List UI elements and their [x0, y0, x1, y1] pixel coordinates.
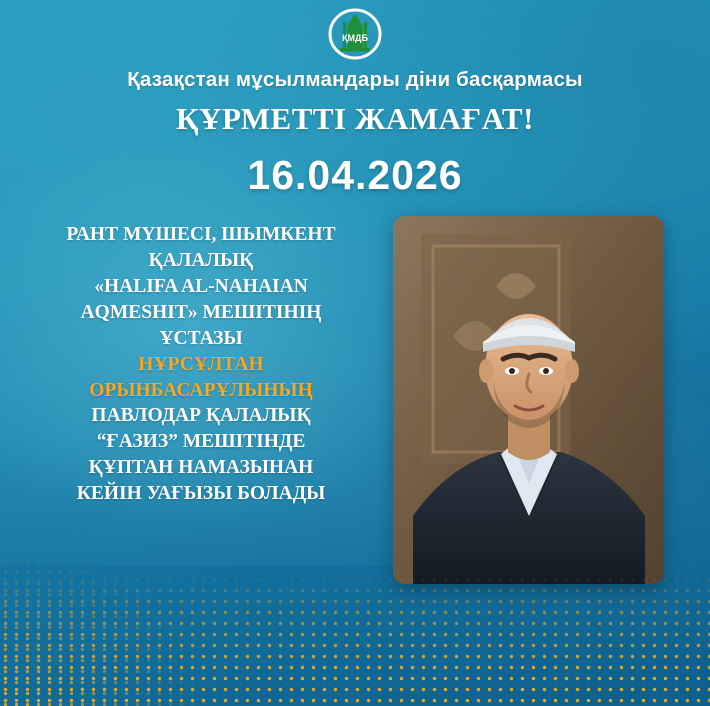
- announcement-line: “ҒАЗИЗ” МЕШІТІНДЕ: [26, 429, 376, 455]
- speaker-name-line: НҰРСҰЛТАН: [26, 352, 376, 378]
- announcement-line: AQMESHIT» МЕШІТІНІҢ: [26, 300, 376, 326]
- announcement-line: ПАВЛОДАР ҚАЛАЛЫҚ: [26, 403, 376, 429]
- decorative-dot-corner: [0, 556, 200, 706]
- event-date: 16.04.2026: [0, 152, 710, 199]
- announcement-line: ҚҰПТАН НАМАЗЫНАН: [26, 455, 376, 481]
- organization-name: Қазақстан мұсылмандары діни басқармасы: [0, 68, 710, 92]
- svg-text:ҚМДБ: ҚМДБ: [342, 33, 368, 43]
- announcement-line: РАНТ МҮШЕСІ, ШЫМКЕНТ: [26, 222, 376, 248]
- speaker-name-line: ОРЫНБАСАРҰЛЫНЫҢ: [26, 378, 376, 404]
- logo-container: ҚМДБ: [0, 8, 710, 60]
- greeting-heading: ҚҰРМЕТТІ ЖАМАҒАТ!: [0, 101, 710, 137]
- announcement-line: КЕЙІН УАҒЫЗЫ БОЛАДЫ: [26, 481, 376, 507]
- announcement-line: ҚАЛАЛЫҚ: [26, 248, 376, 274]
- announcement-line: ҰСТАЗЫ: [26, 326, 376, 352]
- poster-canvas: ҚМДБ Қазақстан мұсылмандары діни басқарм…: [0, 0, 710, 706]
- announcement-line: «HALIFA AL-NAHAIAN: [26, 274, 376, 300]
- portrait-image: [393, 216, 664, 584]
- qmdb-mosque-logo-icon: ҚМДБ: [327, 8, 383, 60]
- speaker-portrait: [393, 216, 664, 584]
- announcement-text: РАНТ МҮШЕСІ, ШЫМКЕНТ ҚАЛАЛЫҚ «HALIFA AL-…: [26, 222, 376, 507]
- decorative-dot-band: [0, 574, 710, 706]
